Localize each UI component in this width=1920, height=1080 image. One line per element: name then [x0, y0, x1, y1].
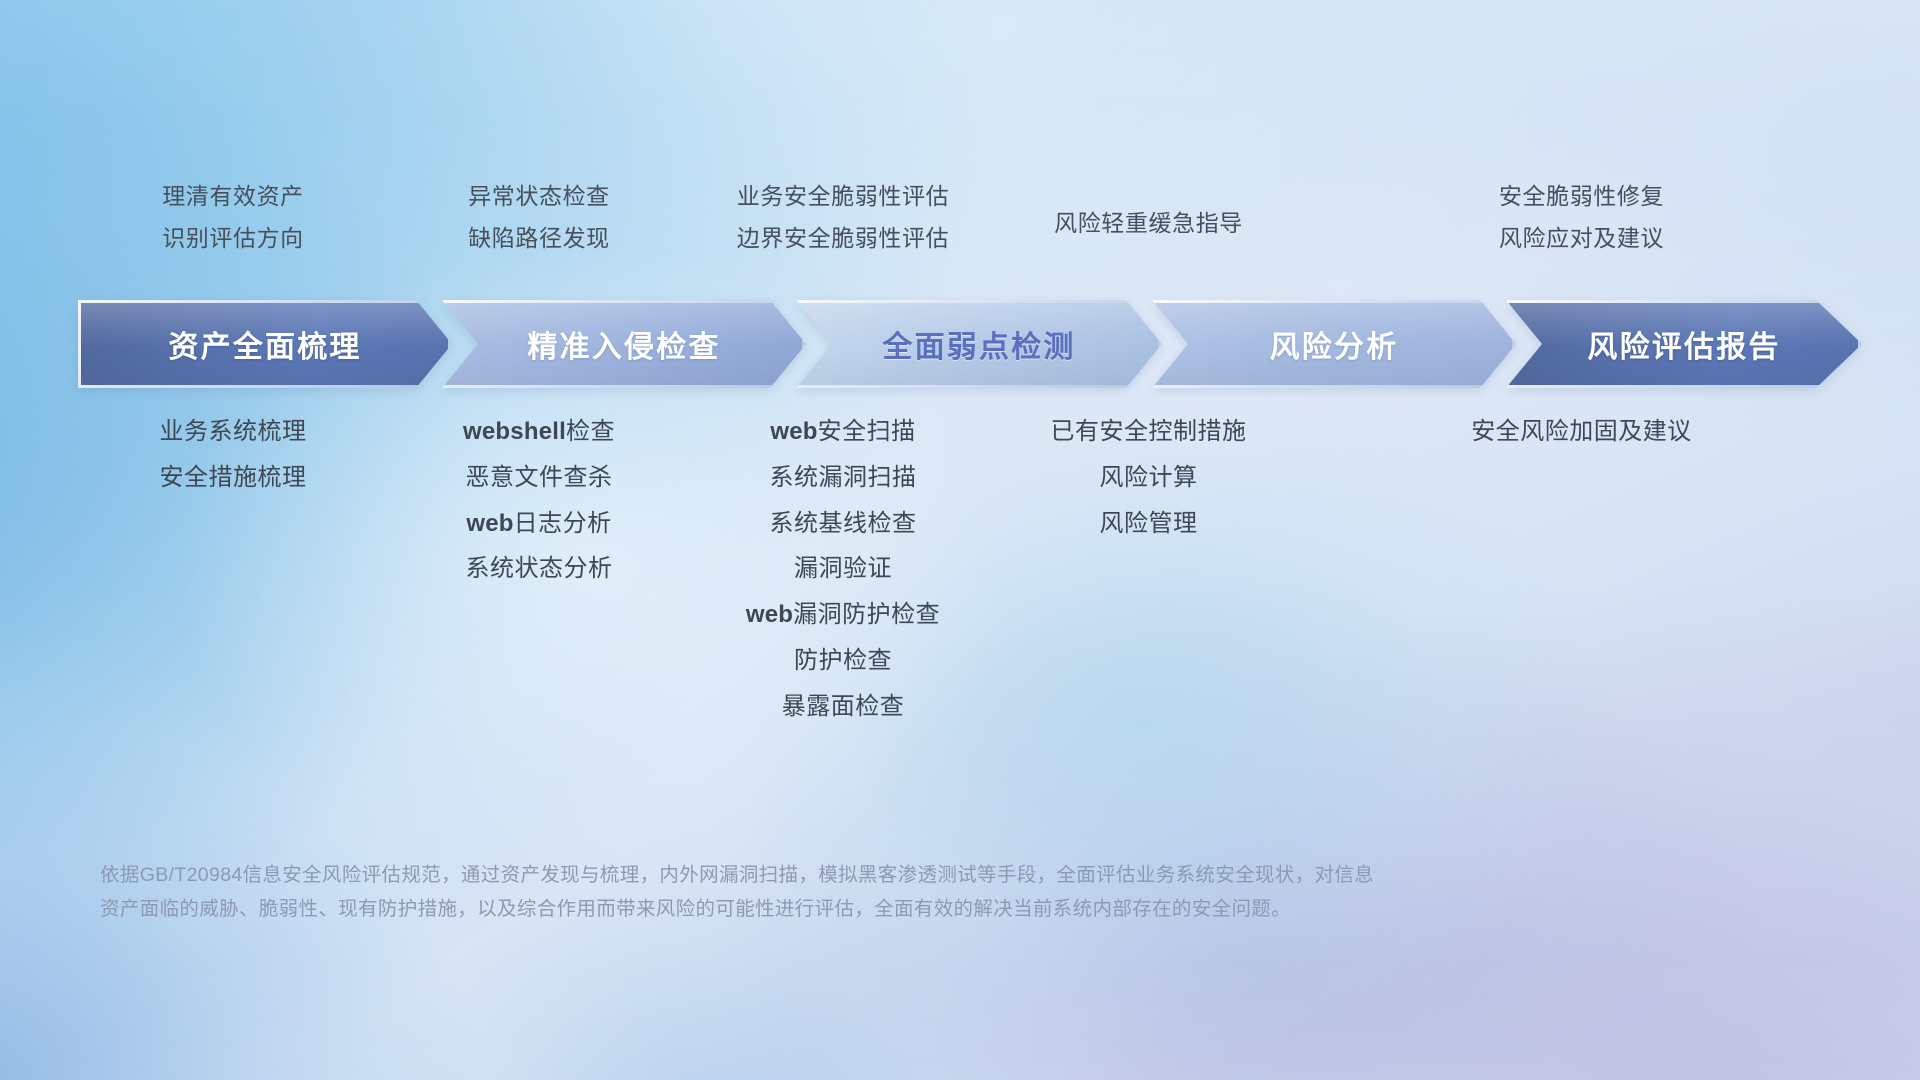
- stage-item: 风险管理: [996, 510, 1301, 539]
- stage-item: web日志分析: [388, 510, 690, 539]
- stage-item-list: 已有安全控制措施风险计算风险管理: [996, 418, 1301, 538]
- stage-chevron-label: 资产全面梳理: [168, 322, 361, 366]
- stage-item-keyword: webshell: [463, 418, 566, 445]
- process-flow-banner: 资产全面梳理 精准入侵检查 全面弱点检测 风险分析: [78, 300, 1862, 388]
- stage-item: 漏洞验证: [690, 555, 996, 584]
- stage-item: 系统基线检查: [690, 510, 996, 539]
- description-line: 资产面临的威胁、脆弱性、现有防护措施，以及综合作用而带来风险的可能性进行评估，全…: [100, 892, 1620, 926]
- stage-item: 业务系统梳理: [78, 418, 388, 447]
- stage-item-list: 业务系统梳理安全措施梳理: [78, 418, 388, 493]
- stage-item-list: webshell检查恶意文件查杀web日志分析系统状态分析: [388, 418, 690, 584]
- stage-column-risk-analysis-top: 风险轻重缓急指导: [996, 182, 1301, 264]
- top-label: 识别评估方向: [78, 224, 388, 252]
- top-label: 理清有效资产: [78, 182, 388, 210]
- top-label: 边界安全脆弱性评估: [690, 224, 996, 252]
- top-label: 异常状态检查: [388, 182, 690, 210]
- stage-item-list: 安全风险加固及建议: [1301, 418, 1862, 447]
- top-label: 业务安全脆弱性评估: [690, 182, 996, 210]
- description-line: 依据GB/T20984信息安全风险评估规范，通过资产发现与梳理，内外网漏洞扫描，…: [100, 858, 1620, 892]
- stage-item-keyword: web: [746, 601, 793, 628]
- stage-column-asset-inventory-items: 业务系统梳理安全措施梳理: [78, 418, 388, 722]
- stage-column-assessment-report-items: 安全风险加固及建议: [1301, 418, 1862, 722]
- stage-chevron-intrusion-check[interactable]: 精准入侵检查: [442, 300, 806, 388]
- stage-column-asset-inventory-top: 理清有效资产 识别评估方向: [78, 182, 388, 264]
- stage-item-keyword: web: [466, 510, 513, 537]
- stage-chevron-assessment-report[interactable]: 风险评估报告: [1506, 300, 1862, 388]
- stage-item: web漏洞防护检查: [690, 601, 996, 630]
- stage-bottom-lists-row: 业务系统梳理安全措施梳理 webshell检查恶意文件查杀web日志分析系统状态…: [78, 418, 1862, 722]
- stage-item: 已有安全控制措施: [996, 418, 1301, 447]
- stage-chevron-asset-inventory[interactable]: 资产全面梳理: [78, 300, 452, 388]
- stage-chevron-label: 风险评估报告: [1587, 322, 1780, 366]
- stage-chevron-label: 全面弱点检测: [882, 322, 1075, 366]
- stage-chevron-risk-analysis[interactable]: 风险分析: [1152, 300, 1516, 388]
- stage-item: webshell检查: [388, 418, 690, 447]
- stage-item: web安全扫描: [690, 418, 996, 447]
- top-label: 安全脆弱性修复: [1301, 182, 1862, 210]
- stage-top-labels-row: 理清有效资产 识别评估方向 异常状态检查 缺陷路径发现 业务安全脆弱性评估 边界…: [78, 182, 1862, 264]
- stage-item: 暴露面检查: [690, 693, 996, 722]
- stage-column-risk-analysis-items: 已有安全控制措施风险计算风险管理: [996, 418, 1301, 722]
- stage-item-keyword: web: [770, 418, 817, 445]
- stage-column-assessment-report-top: 安全脆弱性修复 风险应对及建议: [1301, 182, 1862, 264]
- stage-item: 风险计算: [996, 464, 1301, 493]
- stage-chevron-label: 风险分析: [1270, 322, 1399, 366]
- stage-item: 恶意文件查杀: [388, 464, 690, 493]
- stage-column-weakness-detection-items: web安全扫描系统漏洞扫描系统基线检查漏洞验证web漏洞防护检查防护检查暴露面检…: [690, 418, 996, 722]
- stage-item-list: web安全扫描系统漏洞扫描系统基线检查漏洞验证web漏洞防护检查防护检查暴露面检…: [690, 418, 996, 722]
- top-label: 风险应对及建议: [1301, 224, 1862, 252]
- stage-item: 系统漏洞扫描: [690, 464, 996, 493]
- stage-item: 防护检查: [690, 647, 996, 676]
- top-label: 风险轻重缓急指导: [996, 209, 1301, 237]
- stage-chevron-weakness-detection[interactable]: 全面弱点检测: [796, 300, 1162, 388]
- stage-column-weakness-detection-top: 业务安全脆弱性评估 边界安全脆弱性评估: [690, 182, 996, 264]
- stage-item: 安全措施梳理: [78, 464, 388, 493]
- stage-column-intrusion-check-top: 异常状态检查 缺陷路径发现: [388, 182, 690, 264]
- stage-chevron-label: 精准入侵检查: [527, 322, 720, 366]
- stage-column-intrusion-check-items: webshell检查恶意文件查杀web日志分析系统状态分析: [388, 418, 690, 722]
- description-paragraph: 依据GB/T20984信息安全风险评估规范，通过资产发现与梳理，内外网漏洞扫描，…: [100, 858, 1620, 926]
- stage-item: 安全风险加固及建议: [1301, 418, 1862, 447]
- stage-item: 系统状态分析: [388, 555, 690, 584]
- top-label: 缺陷路径发现: [388, 224, 690, 252]
